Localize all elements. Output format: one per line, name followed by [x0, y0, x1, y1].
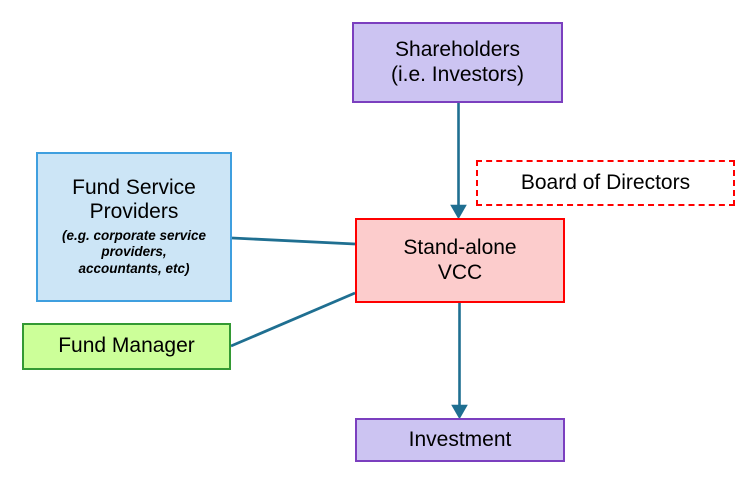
node-stand-alone-vcc-label: Stand-alone VCC — [403, 236, 516, 285]
node-fund-service-providers-label: Fund Service Providers — [72, 176, 196, 225]
node-stand-alone-vcc[interactable]: Stand-alone VCC — [355, 218, 565, 303]
node-fund-service-providers-subtitle: (e.g. corporate service providers, accou… — [62, 228, 206, 279]
node-shareholders[interactable]: Shareholders (i.e. Investors) — [352, 22, 563, 103]
node-fund-service-providers[interactable]: Fund Service Providers (e.g. corporate s… — [36, 152, 232, 302]
node-board-of-directors-label: Board of Directors — [521, 171, 690, 195]
node-shareholders-label: Shareholders (i.e. Investors) — [391, 38, 524, 87]
node-fund-manager[interactable]: Fund Manager — [22, 323, 231, 370]
node-board-of-directors[interactable]: Board of Directors — [476, 160, 735, 206]
connector-fund-service-providers-to-vcc — [232, 238, 355, 244]
node-fund-manager-label: Fund Manager — [58, 334, 195, 358]
node-investment[interactable]: Investment — [355, 418, 565, 462]
node-investment-label: Investment — [409, 428, 512, 452]
connector-fund-manager-to-vcc — [231, 293, 355, 346]
diagram-canvas: Shareholders (i.e. Investors) Board of D… — [0, 0, 744, 484]
